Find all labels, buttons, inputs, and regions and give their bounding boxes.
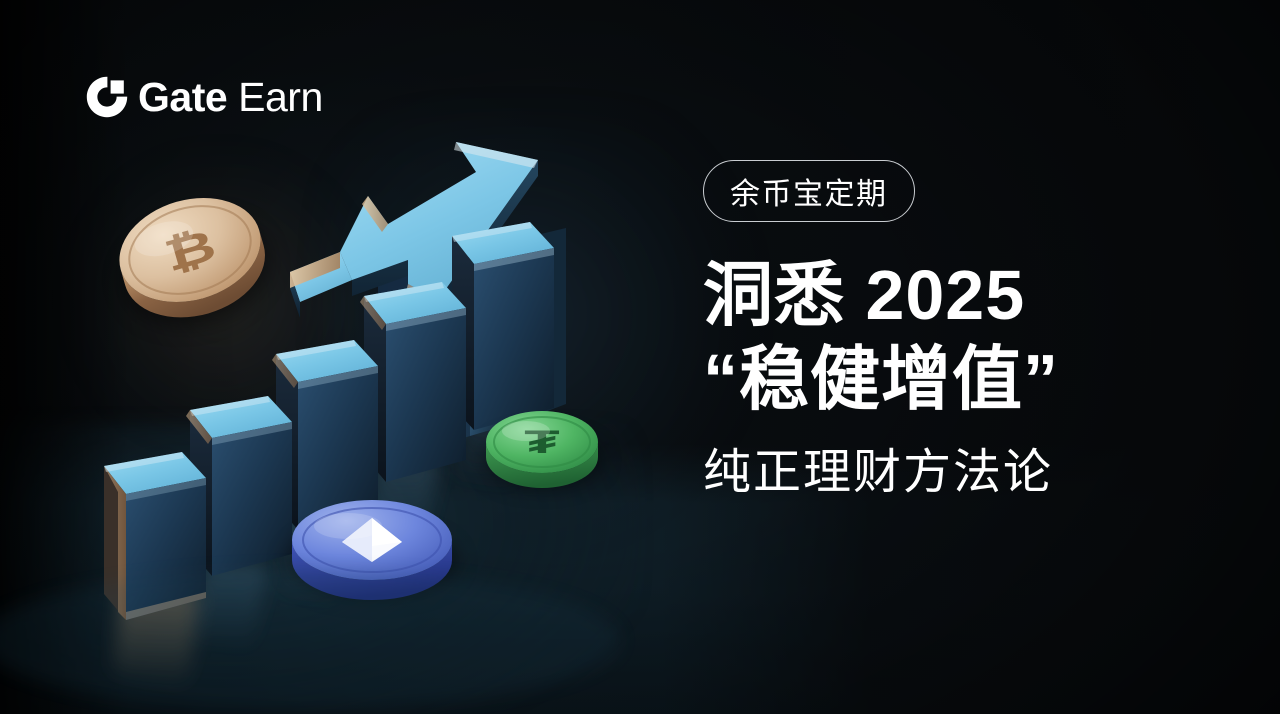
logo-product-text: Earn	[238, 74, 323, 120]
gate-g-logo-icon	[86, 76, 128, 118]
copy-block: 余币宝定期 洞悉 2025 “稳健增值” 纯正理财方法论	[703, 160, 1223, 500]
product-badge: 余币宝定期	[703, 160, 915, 222]
headline-line-2: “稳健增值”	[703, 340, 1223, 418]
tether-coin-icon: ₮	[484, 411, 600, 488]
logo-brand-text: Gate	[138, 74, 227, 120]
bar-5	[452, 222, 554, 430]
logo-wordmark: GateEarn	[138, 77, 323, 118]
promo-banner: ₿ ₮	[0, 0, 1280, 714]
headline-line-1: 洞悉 2025	[703, 256, 1223, 334]
subheadline: 纯正理财方法论	[703, 447, 1223, 500]
bitcoin-coin-icon: ₿	[105, 182, 281, 342]
gate-earn-logo[interactable]: GateEarn	[86, 76, 323, 118]
headline: 洞悉 2025 “稳健增值”	[703, 256, 1223, 419]
